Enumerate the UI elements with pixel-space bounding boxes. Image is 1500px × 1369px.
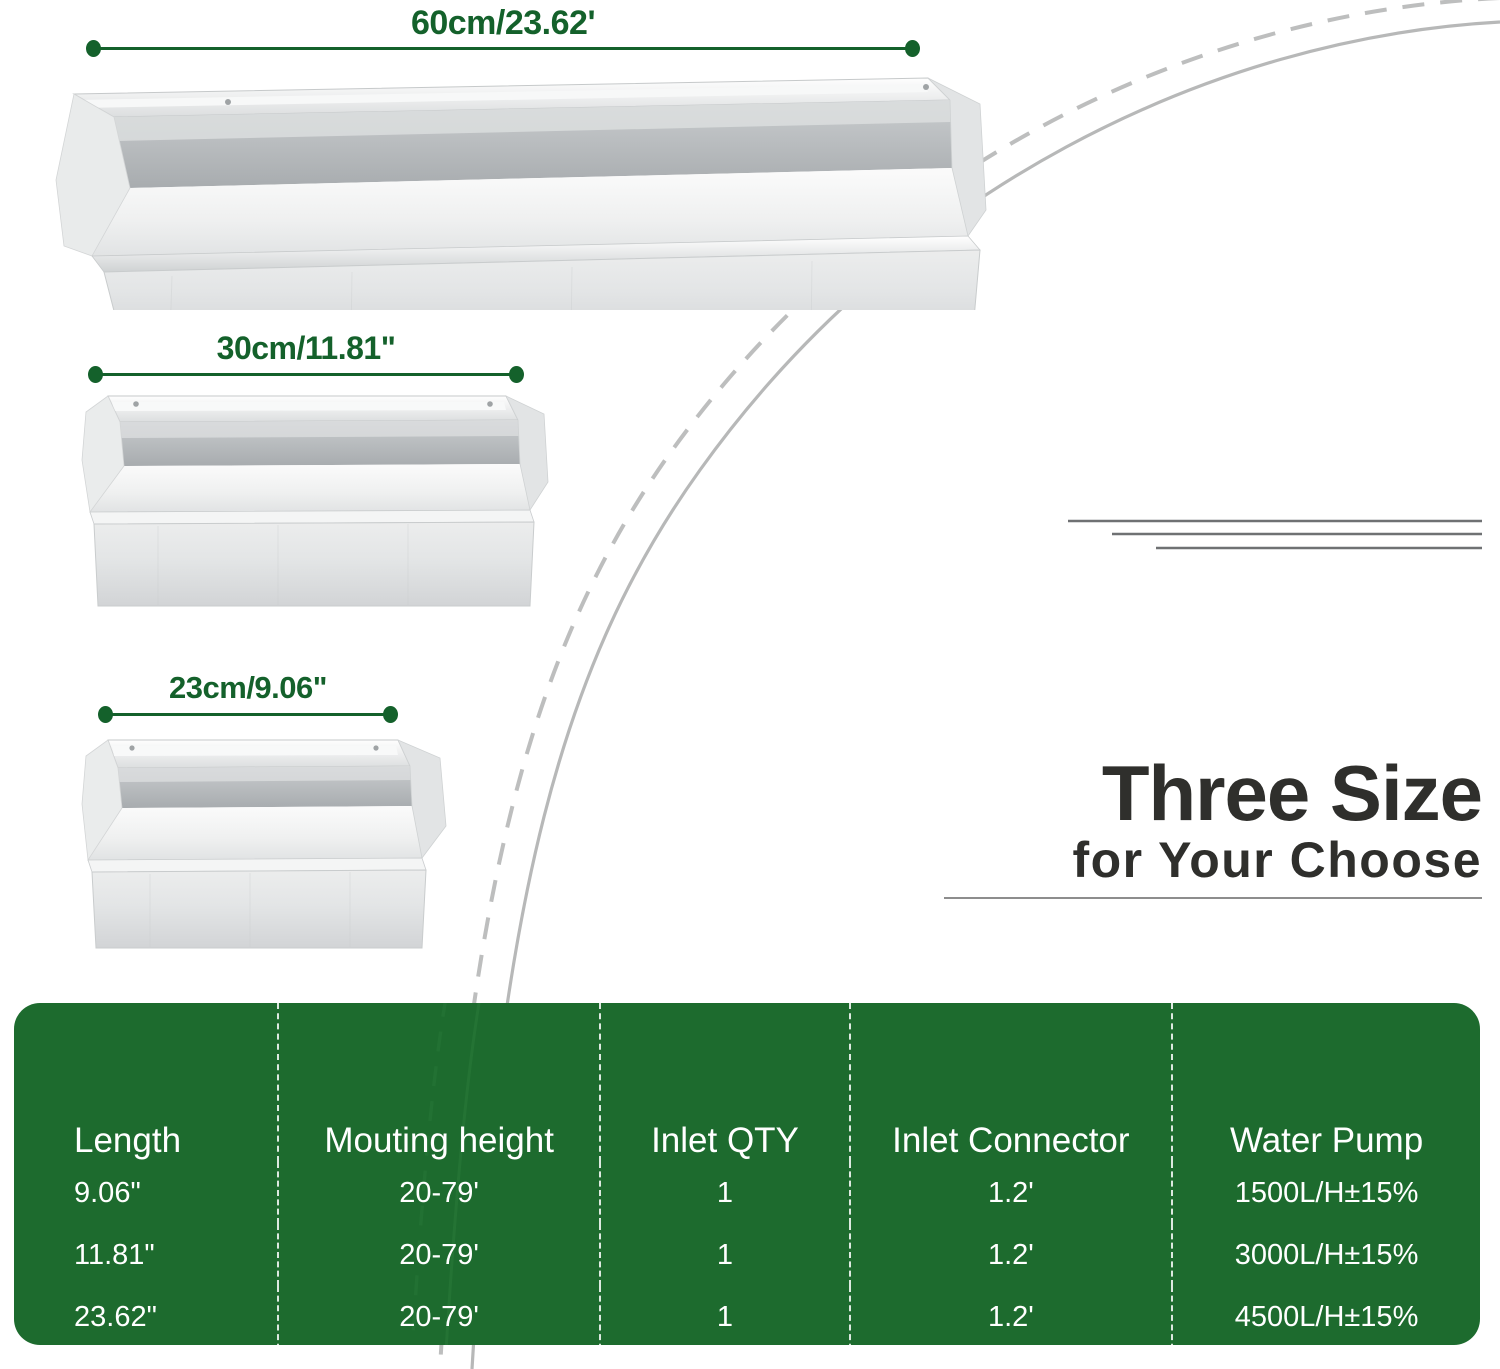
spec-table-row: 11.81" 20-79' 1 1.2' 3000L/H±15%	[14, 1224, 1480, 1286]
dimension-medium-label: 30cm/11.81"	[88, 330, 524, 367]
cell-mounting-height: 20-79'	[278, 1162, 601, 1224]
dimension-line-icon	[98, 706, 398, 722]
spec-panel: Length Mouting height Inlet QTY Inlet Co…	[14, 1003, 1480, 1345]
product-waterfall-spillway-large	[52, 60, 992, 310]
headline-secondary: for Your Choose	[944, 834, 1482, 887]
dimension-large: 60cm/23.62'	[86, 4, 920, 64]
cell-inlet-connector: 1.2'	[850, 1224, 1173, 1286]
cell-length: 9.06"	[14, 1162, 278, 1224]
spec-table-row: 23.62" 20-79' 1 1.2' 4500L/H±15%	[14, 1286, 1480, 1345]
spec-header-mounting-height: Mouting height	[278, 1003, 601, 1162]
spec-table: Length Mouting height Inlet QTY Inlet Co…	[14, 1003, 1480, 1345]
headline-primary: Three Size	[944, 756, 1482, 830]
cell-water-pump: 3000L/H±15%	[1172, 1224, 1480, 1286]
spec-header-water-pump: Water Pump	[1172, 1003, 1480, 1162]
dimension-large-label: 60cm/23.62'	[86, 4, 920, 43]
cell-mounting-height: 20-79'	[278, 1286, 601, 1345]
headline-block: Three Size for Your Choose	[944, 756, 1482, 899]
product-waterfall-spillway-medium	[78, 390, 558, 630]
cell-inlet-qty: 1	[600, 1286, 849, 1345]
headline-underline	[944, 897, 1482, 899]
spec-header-length: Length	[14, 1003, 278, 1162]
spec-table-row: 9.06" 20-79' 1 1.2' 1500L/H±15%	[14, 1162, 1480, 1224]
cell-length: 23.62"	[14, 1286, 278, 1345]
dimension-line-icon	[86, 40, 920, 56]
dimension-medium: 30cm/11.81"	[88, 330, 524, 386]
cell-inlet-connector: 1.2'	[850, 1286, 1173, 1345]
product-waterfall-spillway-small	[80, 730, 460, 960]
cell-inlet-qty: 1	[600, 1162, 849, 1224]
cell-length: 11.81"	[14, 1224, 278, 1286]
cell-water-pump: 4500L/H±15%	[1172, 1286, 1480, 1345]
cell-inlet-qty: 1	[600, 1224, 849, 1286]
cell-mounting-height: 20-79'	[278, 1224, 601, 1286]
dimension-small-label: 23cm/9.06"	[98, 670, 398, 706]
cell-water-pump: 1500L/H±15%	[1172, 1162, 1480, 1224]
spec-header-inlet-qty: Inlet QTY	[600, 1003, 849, 1162]
spec-header-inlet-connector: Inlet Connector	[850, 1003, 1173, 1162]
cell-inlet-connector: 1.2'	[850, 1162, 1173, 1224]
spec-table-header-row: Length Mouting height Inlet QTY Inlet Co…	[14, 1003, 1480, 1162]
dimension-small: 23cm/9.06"	[98, 670, 398, 726]
dimension-line-icon	[88, 366, 524, 382]
